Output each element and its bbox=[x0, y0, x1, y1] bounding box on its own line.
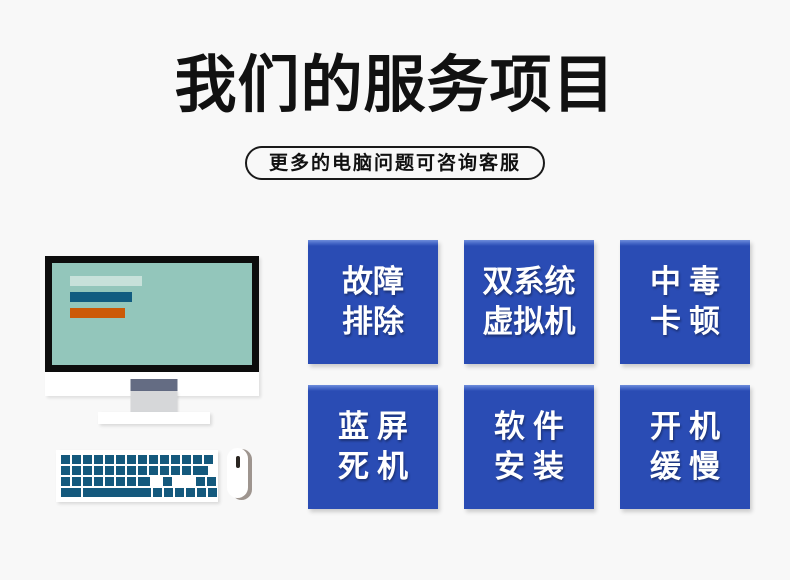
mouse bbox=[227, 448, 252, 500]
service-tile-software-installation[interactable]: 软件 安装 bbox=[464, 385, 594, 509]
service-tile-line1: 双系统 bbox=[483, 262, 576, 302]
service-tile-slow-boot[interactable]: 开机 缓慢 bbox=[620, 385, 750, 509]
page-title: 我们的服务项目 bbox=[0, 48, 790, 122]
service-tile-line2: 卡顿 bbox=[642, 302, 728, 342]
monitor-bezel bbox=[45, 256, 259, 372]
keyboard-row bbox=[61, 477, 213, 486]
monitor-stand-neck bbox=[131, 391, 178, 413]
service-tile-line2: 安装 bbox=[486, 447, 572, 487]
mouse-scroll-wheel-icon bbox=[236, 456, 240, 468]
screen-bar-light bbox=[70, 276, 142, 286]
monitor-stand-base bbox=[98, 412, 210, 424]
keyboard-row bbox=[61, 455, 213, 464]
service-tile-line1: 蓝屏 bbox=[330, 407, 416, 447]
service-tile-line2: 虚拟机 bbox=[483, 302, 576, 342]
monitor-stand-top bbox=[131, 379, 178, 391]
service-tile-dual-system-virtual-machine[interactable]: 双系统 虚拟机 bbox=[464, 240, 594, 364]
service-tile-line2: 排除 bbox=[342, 302, 404, 342]
monitor-screen bbox=[52, 263, 252, 365]
screen-bar-blue bbox=[70, 292, 132, 302]
screen-bar-orange bbox=[70, 308, 125, 318]
service-tile-virus-lag[interactable]: 中毒 卡顿 bbox=[620, 240, 750, 364]
service-tile-fault-troubleshooting[interactable]: 故障 排除 bbox=[308, 240, 438, 364]
service-grid: 故障 排除 双系统 虚拟机 中毒 卡顿 蓝屏 死机 软件 安装 开机 缓慢 bbox=[308, 240, 750, 509]
service-tile-line2: 缓慢 bbox=[642, 447, 728, 487]
service-tile-line1: 开机 bbox=[642, 407, 728, 447]
service-tile-line1: 故障 bbox=[342, 262, 404, 302]
keyboard bbox=[56, 450, 218, 502]
computer-illustration bbox=[28, 248, 280, 510]
subtitle-pill: 更多的电脑问题可咨询客服 bbox=[245, 146, 545, 180]
keyboard-row bbox=[61, 466, 213, 475]
service-tile-line1: 软件 bbox=[486, 407, 572, 447]
service-tile-line1: 中毒 bbox=[642, 262, 728, 302]
keyboard-row bbox=[61, 488, 213, 497]
promo-page: 我们的服务项目 更多的电脑问题可咨询客服 bbox=[0, 0, 790, 580]
service-tile-line2: 死机 bbox=[330, 447, 416, 487]
mouse-body bbox=[227, 448, 248, 498]
subtitle-text: 更多的电脑问题可咨询客服 bbox=[269, 154, 521, 173]
service-tile-blue-screen-crash[interactable]: 蓝屏 死机 bbox=[308, 385, 438, 509]
